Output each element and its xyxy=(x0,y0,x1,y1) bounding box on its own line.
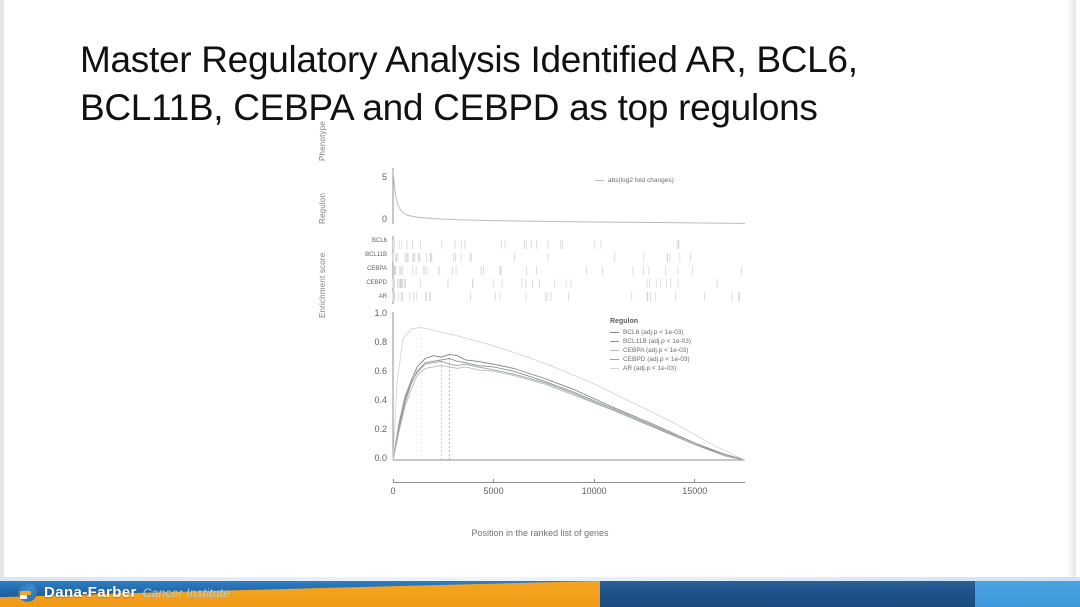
phenotype-axis-label: Phenotype xyxy=(318,112,327,170)
gsea-figure: Phenotype 5 0 abs(log2 fold changes) Reg… xyxy=(325,160,755,550)
x-axis-line xyxy=(393,482,745,483)
regulon-cat-bcl11b: BCL11B xyxy=(339,252,387,258)
regulon-cat-ar: AR xyxy=(339,294,387,300)
legend-swatch-regulon xyxy=(610,368,619,370)
enrich-ytick-1-0: 1.0 xyxy=(355,308,387,318)
legend-swatch-regulon xyxy=(610,341,619,343)
phenotype-curve xyxy=(393,172,745,224)
dana-farber-logo: Dana-Farber Cancer Institute xyxy=(18,582,230,602)
legend-label-regulon: CEBPA (adj.p < 1e-03) xyxy=(623,347,688,354)
enrichment-panel xyxy=(393,312,745,470)
legend-label-regulon: AR (adj.p < 1e-03) xyxy=(623,365,676,372)
x-axis-tick xyxy=(393,479,394,482)
title-line-2: BCL11B, CEBPA and CEBPD as top regulons xyxy=(80,84,980,132)
logo-name: Dana-Farber xyxy=(44,584,137,601)
left-edge-strip xyxy=(0,0,4,607)
legend-swatch-regulon xyxy=(610,359,619,361)
legend-label-regulon: CEBPD (adj.p < 1e-03) xyxy=(623,356,690,363)
slide-canvas: Master Regulatory Analysis Identified AR… xyxy=(0,0,1080,607)
legend-item-regulon: CEBPA (adj.p < 1e-03) xyxy=(610,346,691,355)
enrich-ytick-0-2: 0.2 xyxy=(355,424,387,434)
slide-footer: Dana-Farber Cancer Institute xyxy=(0,577,1080,607)
enrichment-curve xyxy=(393,354,745,460)
enrichment-axis-label: Enrichment score xyxy=(318,230,327,340)
legend-item-regulon: BCL11B (adj.p < 1e-03) xyxy=(610,337,691,346)
regulon-rug-plot xyxy=(393,236,745,308)
regulon-cat-bcl6: BCL6 xyxy=(339,238,387,244)
enrichment-plot xyxy=(393,312,745,470)
right-edge-gradient xyxy=(1066,0,1076,607)
regulon-cat-cebpd: CEBPD xyxy=(339,280,387,286)
enrichment-curve xyxy=(393,361,745,460)
x-axis-tick-label: 10000 xyxy=(574,486,614,496)
dana-farber-logo-text: Dana-Farber Cancer Institute xyxy=(44,584,230,601)
enrichment-curves xyxy=(393,328,745,461)
legend-item-phenotype: abs(log2 fold changes) xyxy=(595,176,674,185)
legend-item-regulon: BCL6 (adj.p < 1e-03) xyxy=(610,328,691,337)
title-line-1: Master Regulatory Analysis Identified AR… xyxy=(80,36,980,84)
enrich-ytick-0-0: 0.0 xyxy=(355,453,387,463)
x-axis-tick xyxy=(594,479,595,482)
footer-navy-segment xyxy=(600,581,975,607)
enrich-ytick-0-8: 0.8 xyxy=(355,337,387,347)
x-axis-tick xyxy=(694,479,695,482)
dana-farber-logo-icon xyxy=(18,583,37,602)
x-axis-caption: Position in the ranked list of genes xyxy=(325,528,755,538)
enrichment-leading-edge-lines xyxy=(421,328,449,460)
x-axis-tick-label: 15000 xyxy=(675,486,715,496)
legend-label-phenotype: abs(log2 fold changes) xyxy=(608,177,674,184)
pheno-ytick-0: 0 xyxy=(363,214,387,224)
x-axis-tick xyxy=(493,479,494,482)
x-axis-tick-label: 5000 xyxy=(474,486,514,496)
logo-subtitle: Cancer Institute xyxy=(143,586,230,600)
footer-lightblue-segment xyxy=(975,581,1080,607)
regulon-rug-panel xyxy=(393,236,745,308)
legend-item-regulon: AR (adj.p < 1e-03) xyxy=(610,364,691,373)
legend-swatch-regulon xyxy=(610,350,619,352)
phenotype-panel xyxy=(393,168,745,228)
page-title: Master Regulatory Analysis Identified AR… xyxy=(80,36,980,132)
regulon-cat-cebpa: CEBPA xyxy=(339,266,387,272)
enrichment-legend-rows: BCL6 (adj.p < 1e-03)BCL11B (adj.p < 1e-0… xyxy=(610,328,691,373)
legend-swatch-phenotype xyxy=(595,180,604,182)
enrichment-curve xyxy=(393,366,745,460)
legend-item-regulon: CEBPD (adj.p < 1e-03) xyxy=(610,355,691,364)
enrich-ytick-0-4: 0.4 xyxy=(355,395,387,405)
regulon-rug-rows xyxy=(393,240,742,301)
phenotype-plot xyxy=(393,168,745,228)
legend-label-regulon: BCL11B (adj.p < 1e-03) xyxy=(623,338,691,345)
enrich-ytick-0-6: 0.6 xyxy=(355,366,387,376)
legend-label-regulon: BCL6 (adj.p < 1e-03) xyxy=(623,329,684,336)
enrichment-legend: Regulon BCL6 (adj.p < 1e-03)BCL11B (adj.… xyxy=(610,318,691,373)
enrichment-legend-title: Regulon xyxy=(610,318,691,325)
x-axis-tick-label: 0 xyxy=(373,486,413,496)
legend-swatch-regulon xyxy=(610,332,619,334)
pheno-ytick-5: 5 xyxy=(363,172,387,182)
phenotype-legend: abs(log2 fold changes) xyxy=(595,176,674,185)
